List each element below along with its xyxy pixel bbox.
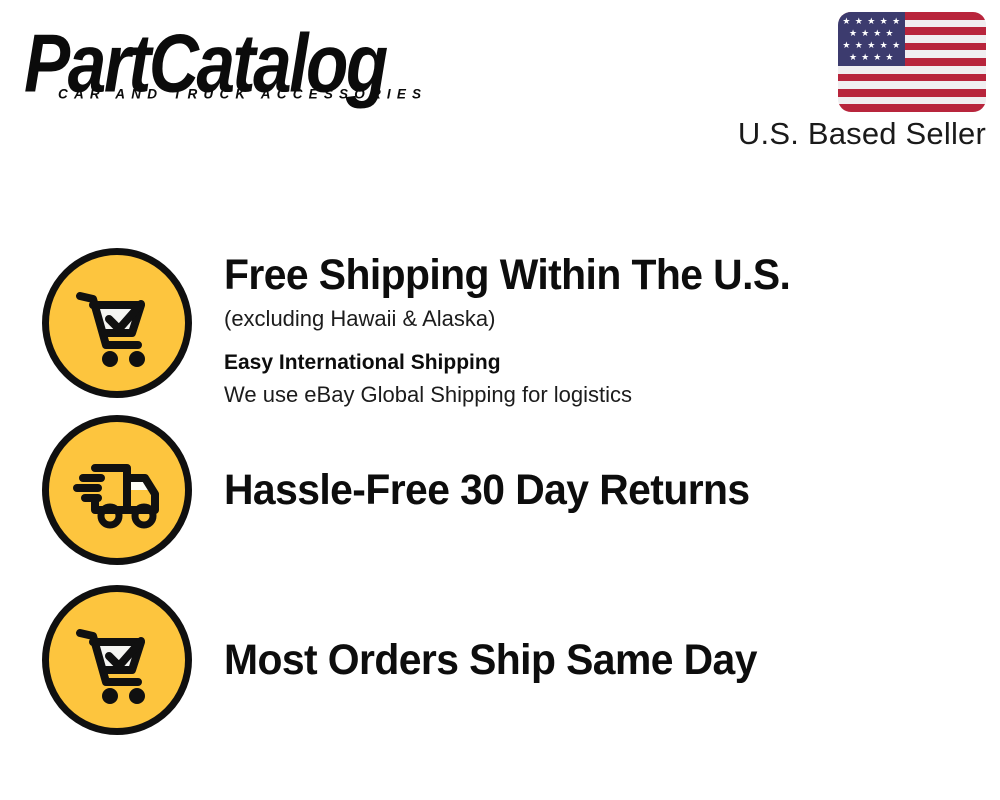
feature-row: Free Shipping Within The U.S. (excluding… (42, 248, 982, 411)
flag-stripe (838, 81, 986, 89)
flag-star: ★ (867, 17, 875, 26)
flag-star: ★ (880, 41, 888, 50)
us-flag-icon: ★ ★ ★ ★ ★ ★ ★ ★ ★ ★ ★ ★ ★ ★ (838, 12, 986, 112)
flag-star: ★ (880, 17, 888, 26)
delivery-truck-icon (42, 415, 192, 565)
feature-title: Most Orders Ship Same Day (224, 635, 944, 685)
shopping-cart-check-icon (42, 585, 192, 735)
flag-star: ★ (885, 53, 893, 62)
flag-star: ★ (855, 41, 863, 50)
flag-stripe (838, 74, 986, 82)
flag-star: ★ (842, 41, 850, 50)
flag-canton: ★ ★ ★ ★ ★ ★ ★ ★ ★ ★ ★ ★ ★ ★ (838, 12, 905, 66)
flag-star: ★ (842, 17, 850, 26)
shopping-cart-check-icon (42, 248, 192, 398)
feature-list: Free Shipping Within The U.S. (excluding… (0, 175, 1000, 800)
us-flag-badge: ★ ★ ★ ★ ★ ★ ★ ★ ★ ★ ★ ★ ★ ★ (838, 12, 986, 112)
flag-star: ★ (892, 17, 900, 26)
flag-star: ★ (855, 17, 863, 26)
feature-text-block: Hassle-Free 30 Day Returns (192, 465, 982, 515)
flag-star: ★ (892, 41, 900, 50)
feature-title: Hassle-Free 30 Day Returns (224, 465, 944, 515)
feature-row: Most Orders Ship Same Day (42, 585, 982, 735)
brand-tagline: CAR AND TRUCK ACCESSORIES (58, 86, 427, 102)
flag-star: ★ (861, 53, 869, 62)
flag-star: ★ (861, 29, 869, 38)
feature-secondary-title: Easy International Shipping (224, 348, 982, 378)
flag-stripe (838, 66, 986, 74)
feature-secondary-subtitle: We use eBay Global Shipping for logistic… (224, 379, 982, 411)
feature-title: Free Shipping Within The U.S. (224, 250, 944, 300)
flag-stripe (838, 97, 986, 105)
flag-star: ★ (849, 29, 857, 38)
flag-star: ★ (867, 41, 875, 50)
feature-subtitle: (excluding Hawaii & Alaska) (224, 302, 982, 336)
flag-stripe (838, 104, 986, 112)
feature-row: Hassle-Free 30 Day Returns (42, 415, 982, 565)
feature-text-block: Free Shipping Within The U.S. (excluding… (192, 248, 982, 411)
us-based-seller-label: U.S. Based Seller (738, 116, 986, 152)
flag-star: ★ (873, 53, 881, 62)
flag-star: ★ (885, 29, 893, 38)
feature-text-block: Most Orders Ship Same Day (192, 635, 982, 685)
page-header: PartCatalog CAR AND TRUCK ACCESSORIES ★ … (0, 0, 1000, 175)
flag-star: ★ (849, 53, 857, 62)
flag-star: ★ (873, 29, 881, 38)
flag-stripe (838, 89, 986, 97)
